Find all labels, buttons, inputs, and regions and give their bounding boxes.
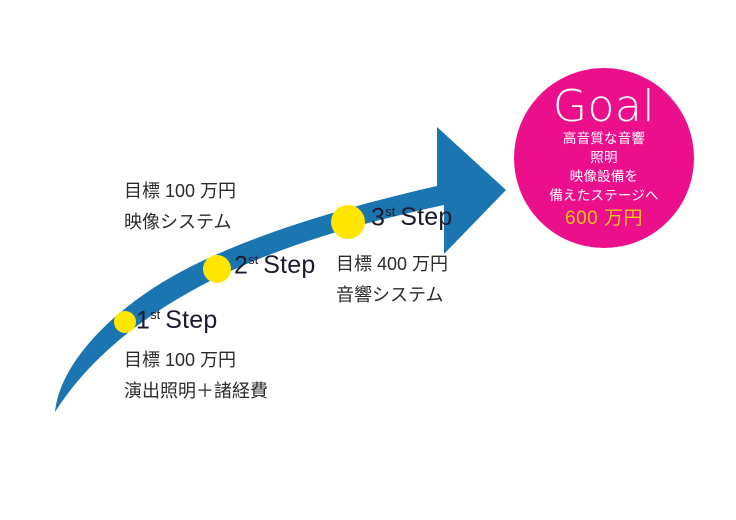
- goal-line: 備えたステージへ: [514, 186, 694, 205]
- step-ordinal-1: st: [150, 307, 160, 322]
- goal-line: 高音質な音響: [514, 129, 694, 148]
- step-description-1: 目標 100 万円 演出照明＋諸経費: [124, 345, 268, 407]
- step-word-2: Step: [263, 251, 315, 279]
- step-description-2: 目標 100 万円 映像システム: [124, 176, 236, 238]
- step-word-3: Step: [400, 203, 452, 231]
- step-number-2: 2: [234, 251, 248, 279]
- goal-circle: Goal 高音質な音響 照明 映像設備を 備えたステージへ 600 万円: [514, 68, 694, 248]
- step-ordinal-2: st: [248, 252, 258, 267]
- step-word-1: Step: [165, 306, 217, 334]
- goal-title: Goal: [514, 85, 694, 129]
- step-dot-2: [203, 255, 231, 283]
- step-desc-line: 演出照明＋諸経費: [124, 376, 268, 407]
- step-desc-line: 目標 400 万円: [336, 249, 448, 280]
- step-desc-line: 音響システム: [336, 280, 448, 311]
- step-number-1: 1: [136, 306, 150, 334]
- step-dot-1: [114, 311, 136, 333]
- step-desc-line: 目標 100 万円: [124, 345, 268, 376]
- step-desc-line: 目標 100 万円: [124, 176, 236, 207]
- step-label-3: 3stStep: [371, 205, 452, 230]
- step-number-3: 3: [371, 203, 385, 231]
- step-desc-line: 映像システム: [124, 207, 236, 238]
- step-description-3: 目標 400 万円 音響システム: [336, 249, 448, 311]
- step-dot-3: [331, 205, 365, 239]
- step-label-2: 2stStep: [234, 253, 315, 278]
- step-ordinal-3: st: [385, 204, 395, 219]
- goal-line: 照明: [514, 148, 694, 167]
- infographic-canvas: 1stStep 目標 100 万円 演出照明＋諸経費 2stStep 目標 10…: [0, 0, 736, 520]
- goal-amount: 600 万円: [514, 206, 694, 231]
- step-label-1: 1stStep: [136, 308, 217, 333]
- goal-line: 映像設備を: [514, 167, 694, 186]
